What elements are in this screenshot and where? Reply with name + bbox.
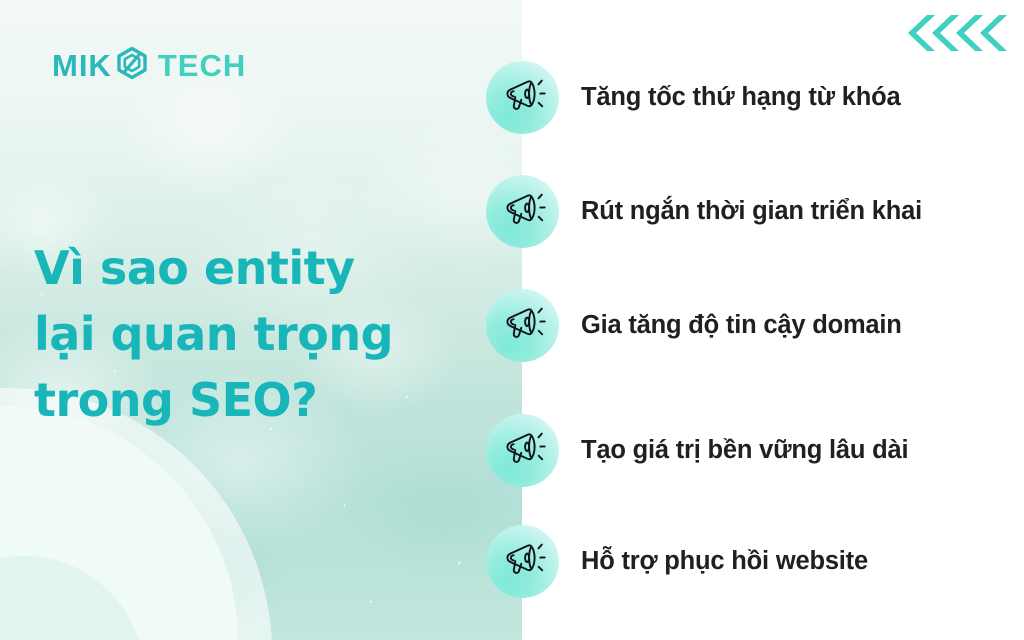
list-item[interactable]: Hỗ trợ phục hồi website bbox=[486, 523, 868, 599]
list-item[interactable]: Tăng tốc thứ hạng từ khóa bbox=[486, 59, 901, 135]
page-title: Vì sao entity lại quan trọng trong SEO? bbox=[34, 236, 484, 433]
title-line-3: trong SEO? bbox=[34, 368, 484, 434]
megaphone-icon bbox=[486, 525, 559, 598]
hexagon-slash-icon bbox=[116, 46, 148, 85]
infographic-canvas: MIK TECH Vì sao entity lại quan trọng tr… bbox=[0, 0, 1024, 640]
megaphone-icon bbox=[486, 414, 559, 487]
list-item-label: Gia tăng độ tin cậy domain bbox=[581, 310, 902, 341]
megaphone-icon bbox=[486, 289, 559, 362]
list-item[interactable]: Rút ngắn thời gian triển khai bbox=[486, 173, 922, 249]
title-line-1: Vì sao entity bbox=[34, 236, 484, 302]
brand-logo[interactable]: MIK TECH bbox=[52, 46, 246, 85]
benefits-list: Tăng tốc thứ hạng từ khóa bbox=[486, 0, 1024, 640]
logo-text-mik: MIK bbox=[52, 50, 112, 81]
list-item[interactable]: Gia tăng độ tin cậy domain bbox=[486, 287, 902, 363]
list-item[interactable]: Tạo giá trị bền vững lâu dài bbox=[486, 412, 908, 488]
list-item-label: Rút ngắn thời gian triển khai bbox=[581, 196, 922, 227]
list-item-label: Tạo giá trị bền vững lâu dài bbox=[581, 435, 908, 466]
megaphone-icon bbox=[486, 175, 559, 248]
title-line-2: lại quan trọng bbox=[34, 302, 484, 368]
logo-text-tech: TECH bbox=[158, 50, 246, 81]
megaphone-icon bbox=[486, 61, 559, 134]
list-item-label: Hỗ trợ phục hồi website bbox=[581, 546, 868, 577]
list-item-label: Tăng tốc thứ hạng từ khóa bbox=[581, 82, 901, 113]
